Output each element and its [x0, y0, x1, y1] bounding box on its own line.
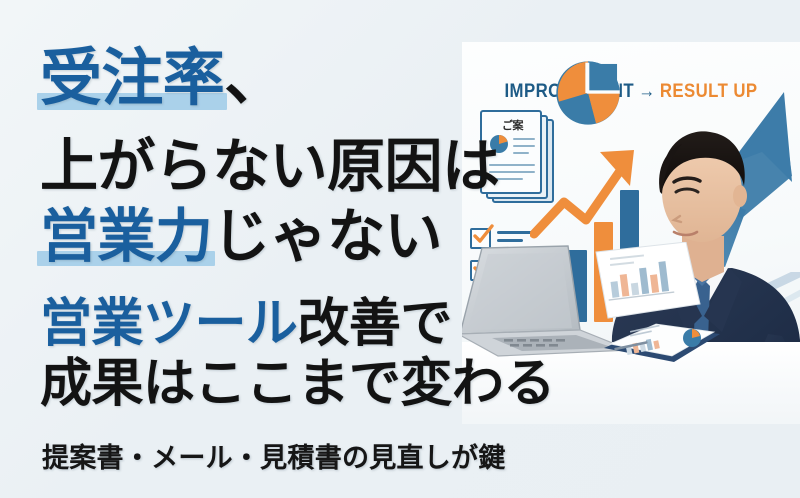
headline-line-4-text-blue: 営業ツール [40, 295, 297, 353]
headline-line-2: 上がらない原因は [40, 138, 499, 196]
clipboard-with-report [600, 314, 722, 364]
headline-line-5-text: 成果はここまで変わる [40, 355, 555, 413]
headline-line-3: 営業力じゃない [40, 208, 442, 266]
headline-line-4: 営業ツール改善で [40, 298, 452, 350]
headline-line-3-text-blue: 営業力 [40, 204, 212, 269]
headline-line-1: 受注率、 [40, 48, 286, 110]
promo-banner: 受注率、 上がらない原因は 営業力じゃない 営業ツール改善で 成果はここまで変わ… [0, 0, 800, 498]
subtitle: 提案書・メール・見積書の見直しが鍵 [42, 436, 506, 475]
doc-label-text: ご案 [502, 117, 523, 133]
held-report-paper [594, 242, 702, 320]
headline-line-3-highlight: 営業力 [40, 208, 212, 266]
headline-line-2-text: 上がらない原因は [40, 134, 499, 199]
headline-copy-block: 受注率、 上がらない原因は 営業力じゃない 営業ツール改善で 成果はここまで変わ… [0, 0, 470, 498]
doc-text-line [513, 138, 535, 140]
headline-line-1-text: 受注率 [40, 44, 224, 113]
subtitle-text: 提案書・メール・見積書の見直しが鍵 [42, 443, 506, 473]
headline-line-4-text-black: 改善で [297, 295, 451, 353]
headline-line-3-text-black: じゃない [212, 204, 442, 269]
headline-line-5: 成果はここまで変わる [40, 358, 555, 410]
headline-line-1-highlight: 受注率 [40, 48, 224, 110]
headline-line-1-comma: 、 [224, 44, 285, 113]
doc-text-line [513, 152, 529, 154]
